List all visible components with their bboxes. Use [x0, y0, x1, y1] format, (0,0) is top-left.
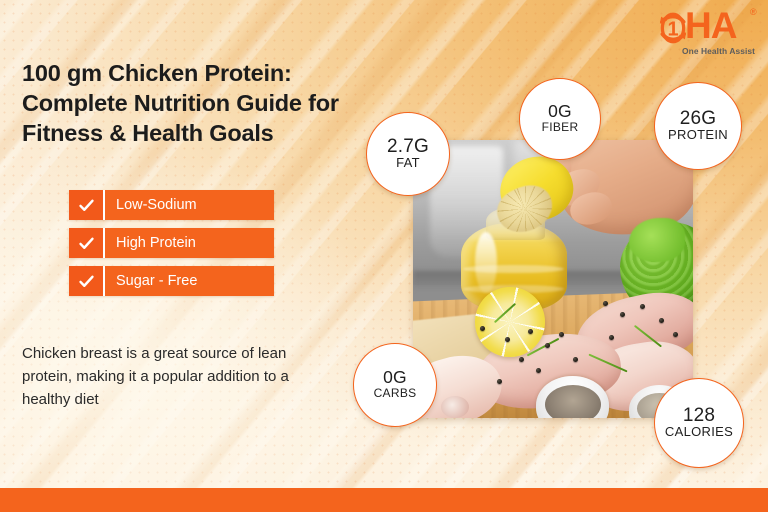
badge-label: FIBER — [542, 121, 579, 135]
nutrition-badge-carbs: 0G CARBS — [353, 343, 437, 427]
list-item[interactable]: Sugar - Free — [69, 266, 274, 296]
peppercorn — [573, 357, 578, 362]
brand-logo[interactable]: 1 HA ® One Health Assist — [654, 8, 760, 60]
list-item-label: Low-Sodium — [105, 190, 274, 220]
jar-specular-shine — [475, 232, 497, 293]
nutrition-badge-calories: 128 CALORIES — [654, 378, 744, 468]
badge-label: FAT — [396, 156, 420, 171]
peppercorn — [609, 335, 614, 340]
list-item-label: High Protein — [105, 228, 274, 258]
check-icon — [69, 190, 105, 220]
badge-value: 26G — [680, 109, 717, 128]
list-item[interactable]: High Protein — [69, 228, 274, 258]
badge-label: PROTEIN — [668, 128, 728, 143]
badge-label: CALORIES — [665, 425, 733, 440]
registered-trademark-symbol: ® — [750, 8, 757, 17]
page-title: 100 gm Chicken Protein: Complete Nutriti… — [22, 58, 352, 148]
logo-row: 1 HA ® — [654, 8, 760, 48]
badge-value: 2.7G — [387, 137, 429, 156]
feature-checklist: Low-Sodium High Protein Sugar - Free — [69, 190, 274, 304]
peppercorn — [640, 304, 645, 309]
svg-text:1: 1 — [667, 19, 678, 41]
lettuce-leaf — [629, 218, 685, 262]
ground-pepper — [545, 385, 601, 418]
nutrition-badge-fat: 2.7G FAT — [366, 112, 450, 196]
badge-value: 0G — [548, 103, 572, 121]
list-item-label: Sugar - Free — [105, 266, 274, 296]
badge-label: CARBS — [374, 387, 417, 401]
list-item[interactable]: Low-Sodium — [69, 190, 274, 220]
peppercorn — [559, 332, 564, 337]
chicken-bone — [441, 396, 469, 418]
check-icon — [69, 266, 105, 296]
bottom-accent-bar — [0, 488, 768, 512]
body-copy: Chicken breast is a great source of lean… — [22, 343, 332, 411]
badge-value: 128 — [683, 406, 715, 425]
peppercorn — [545, 343, 550, 348]
badge-value: 0G — [383, 369, 407, 387]
food-photo — [413, 140, 693, 418]
peppercorn — [528, 329, 533, 334]
infographic-canvas: 1 HA ® One Health Assist 100 gm Chicken … — [0, 0, 768, 512]
nutrition-badge-protein: 26G PROTEIN — [654, 82, 742, 170]
lemon-slice-segments — [475, 287, 545, 357]
logo-wordmark: HA — [685, 6, 736, 46]
check-icon — [69, 228, 105, 258]
nutrition-badge-fiber: 0G FIBER — [519, 78, 601, 160]
logo-tagline: One Health Assist — [682, 46, 755, 56]
